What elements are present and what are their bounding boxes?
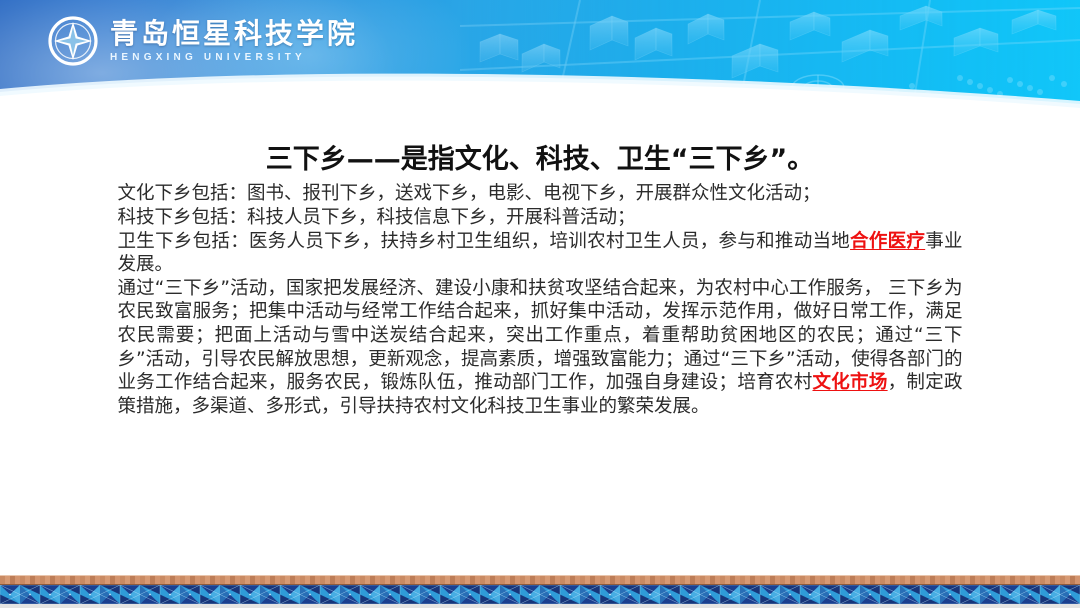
- slide-body-text: 文化下乡包括：图书、报刊下乡，送戏下乡，电影、电视下乡，开展群众性文化活动； 科…: [118, 182, 963, 418]
- logo-text-block: 青岛恒星科技学院 HENGXING UNIVERSITY: [110, 19, 358, 65]
- presentation-slide: 青岛恒星科技学院 HENGXING UNIVERSITY 三下乡——是指文化、科…: [0, 0, 1080, 608]
- slide-content: 三下乡——是指文化、科技、卫生“三下乡”。 文化下乡包括：图书、报刊下乡，送戏下…: [0, 128, 1080, 528]
- body-line-health: 卫生下乡包括：医务人员下乡，扶持乡村卫生组织，培训农村卫生人员，参与和推动当地合…: [118, 230, 963, 277]
- highlight-cooperative-medical: 合作医疗: [850, 231, 925, 252]
- university-logo: 青岛恒星科技学院 HENGXING UNIVERSITY: [46, 14, 358, 68]
- triangle-pattern-svg: [0, 585, 1080, 604]
- slide-footer-border: [0, 566, 1080, 608]
- body-line-technology: 科技下乡包括：科技人员下乡，科技信息下乡，开展科普活动；: [118, 206, 963, 230]
- footer-base-strip: [0, 604, 1080, 608]
- footer-tan-strip: [0, 575, 1080, 585]
- highlight-cultural-market: 文化市场: [812, 372, 887, 393]
- body-main-paragraph: 通过“三下乡”活动，国家把发展经济、建设小康和扶贫攻坚结合起来，为农村中心工作服…: [118, 277, 963, 419]
- footer-whitespace: [0, 566, 1080, 575]
- body-line-culture: 文化下乡包括：图书、报刊下乡，送戏下乡，电影、电视下乡，开展群众性文化活动；: [118, 182, 963, 206]
- page-title: 三下乡——是指文化、科技、卫生“三下乡”。: [0, 144, 1080, 176]
- geometric-triangle-border: [0, 585, 1080, 604]
- compass-emblem-icon: [46, 14, 100, 68]
- slide-header-banner: 青岛恒星科技学院 HENGXING UNIVERSITY: [0, 0, 1080, 112]
- university-name-en: HENGXING UNIVERSITY: [110, 51, 358, 65]
- university-name-cn: 青岛恒星科技学院: [110, 19, 358, 48]
- health-line-prefix: 卫生下乡包括：医务人员下乡，扶持乡村卫生组织，培训农村卫生人员，参与和推动当地: [118, 231, 851, 252]
